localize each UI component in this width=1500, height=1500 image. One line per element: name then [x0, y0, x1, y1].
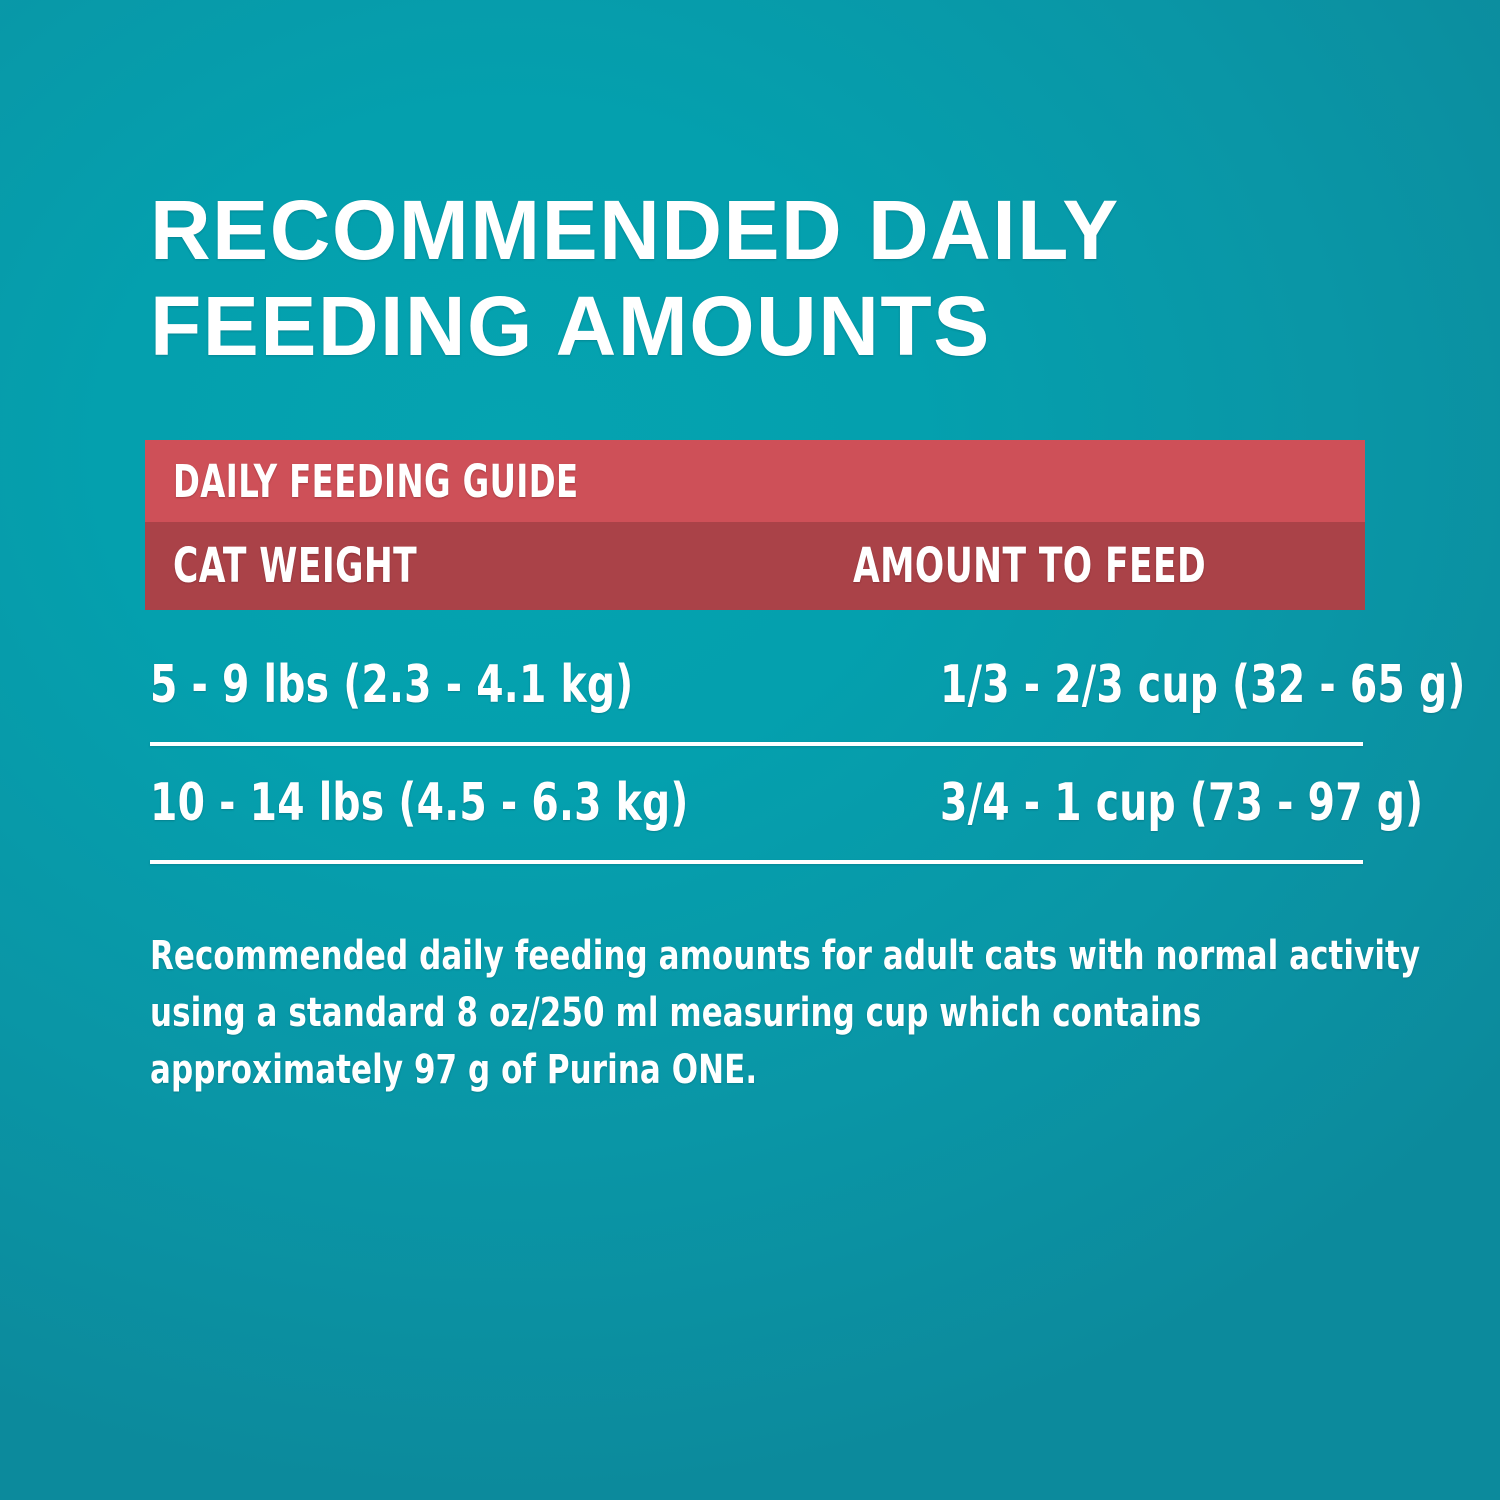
footnote-line-2: using a standard 8 oz/250 ml measuring c…	[150, 985, 1212, 1042]
page-title: RECOMMENDED DAILY FEEDING AMOUNTS	[150, 182, 1380, 374]
row-divider	[150, 860, 1363, 864]
footnote: Recommended daily feeding amounts for ad…	[150, 928, 1385, 1099]
table-caption-band: DAILY FEEDING GUIDE	[145, 440, 1365, 522]
footnote-line-3: approximately 97 g of Purina ONE.	[150, 1042, 1212, 1099]
cell-cat-weight: 5 - 9 lbs (2.3 - 4.1 kg)	[150, 659, 814, 711]
column-header-cat-weight: CAT WEIGHT	[173, 542, 717, 590]
table-row: 10 - 14 lbs (4.5 - 6.3 kg) 3/4 - 1 cup (…	[150, 746, 1363, 860]
feeding-table-body: 5 - 9 lbs (2.3 - 4.1 kg) 1/3 - 2/3 cup (…	[150, 628, 1363, 864]
page-title-line-2: FEEDING AMOUNTS	[150, 278, 1380, 374]
table-column-header-band: CAT WEIGHT AMOUNT TO FEED	[145, 522, 1365, 610]
cell-cat-weight: 10 - 14 lbs (4.5 - 6.3 kg)	[150, 777, 814, 829]
table-row: 5 - 9 lbs (2.3 - 4.1 kg) 1/3 - 2/3 cup (…	[150, 628, 1363, 742]
page-title-line-1: RECOMMENDED DAILY	[150, 182, 1380, 278]
feeding-guide-panel: RECOMMENDED DAILY FEEDING AMOUNTS DAILY …	[0, 0, 1500, 1500]
column-header-amount-to-feed: AMOUNT TO FEED	[853, 542, 1263, 590]
feeding-table-header: DAILY FEEDING GUIDE CAT WEIGHT AMOUNT TO…	[145, 440, 1365, 610]
cell-amount-to-feed: 1/3 - 2/3 cup (32 - 65 g)	[940, 659, 1466, 711]
table-caption-label: DAILY FEEDING GUIDE	[173, 459, 579, 504]
footnote-line-1: Recommended daily feeding amounts for ad…	[150, 928, 1212, 985]
cell-amount-to-feed: 3/4 - 1 cup (73 - 97 g)	[940, 777, 1423, 829]
